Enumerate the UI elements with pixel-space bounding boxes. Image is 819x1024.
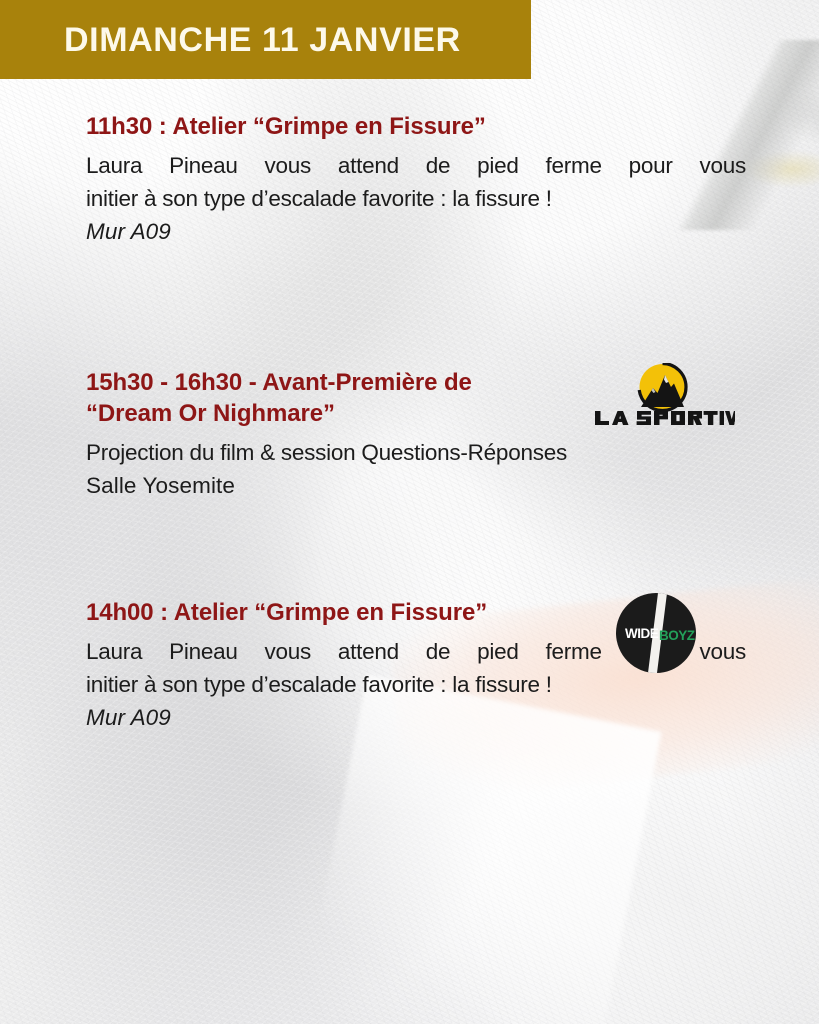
event-location: Mur A09 xyxy=(86,215,746,248)
event-title: 15h30 - 16h30 - Avant-Première de “Dream… xyxy=(86,367,606,429)
svg-text:BOYZ: BOYZ xyxy=(659,628,695,643)
wide-boyz-logo: WIDE BOYZ xyxy=(614,591,698,675)
event-description-line: Projection du film & session Questions-R… xyxy=(86,436,746,469)
event-description: Projection du film & session Questions-R… xyxy=(86,436,746,502)
event-location: Salle Yosemite xyxy=(86,469,746,502)
event-title: 11h30 : Atelier “Grimpe en Fissure” xyxy=(86,111,606,142)
event-item: 11h30 : Atelier “Grimpe en Fissure” Laur… xyxy=(86,111,786,248)
event-title-line: 11h30 : Atelier “Grimpe en Fissure” xyxy=(86,111,606,142)
la-sportiva-logo-icon xyxy=(590,363,735,427)
event-title-line: 14h00 : Atelier “Grimpe en Fissure” xyxy=(86,597,606,628)
event-description-line: initier à son type d’escalade favorite :… xyxy=(86,182,746,215)
event-title-line: “Dream Or Nighmare” xyxy=(86,398,606,429)
wide-boyz-logo-icon: WIDE BOYZ xyxy=(614,591,698,675)
header-band: DIMANCHE 11 JANVIER xyxy=(0,0,531,79)
event-description-line: Laura Pineau vous attend de pied ferme p… xyxy=(86,149,746,182)
page-title: DIMANCHE 11 JANVIER xyxy=(64,23,461,57)
poster-root: DIMANCHE 11 JANVIER 11h30 : Atelier “Gri… xyxy=(0,0,819,1024)
event-description: Laura Pineau vous attend de pied ferme p… xyxy=(86,149,746,248)
event-title-line: 15h30 - 16h30 - Avant-Première de xyxy=(86,367,606,398)
svg-text:WIDE: WIDE xyxy=(625,626,659,641)
la-sportiva-logo xyxy=(590,363,735,427)
event-title: 14h00 : Atelier “Grimpe en Fissure” xyxy=(86,597,606,628)
event-location: Mur A09 xyxy=(86,701,746,734)
